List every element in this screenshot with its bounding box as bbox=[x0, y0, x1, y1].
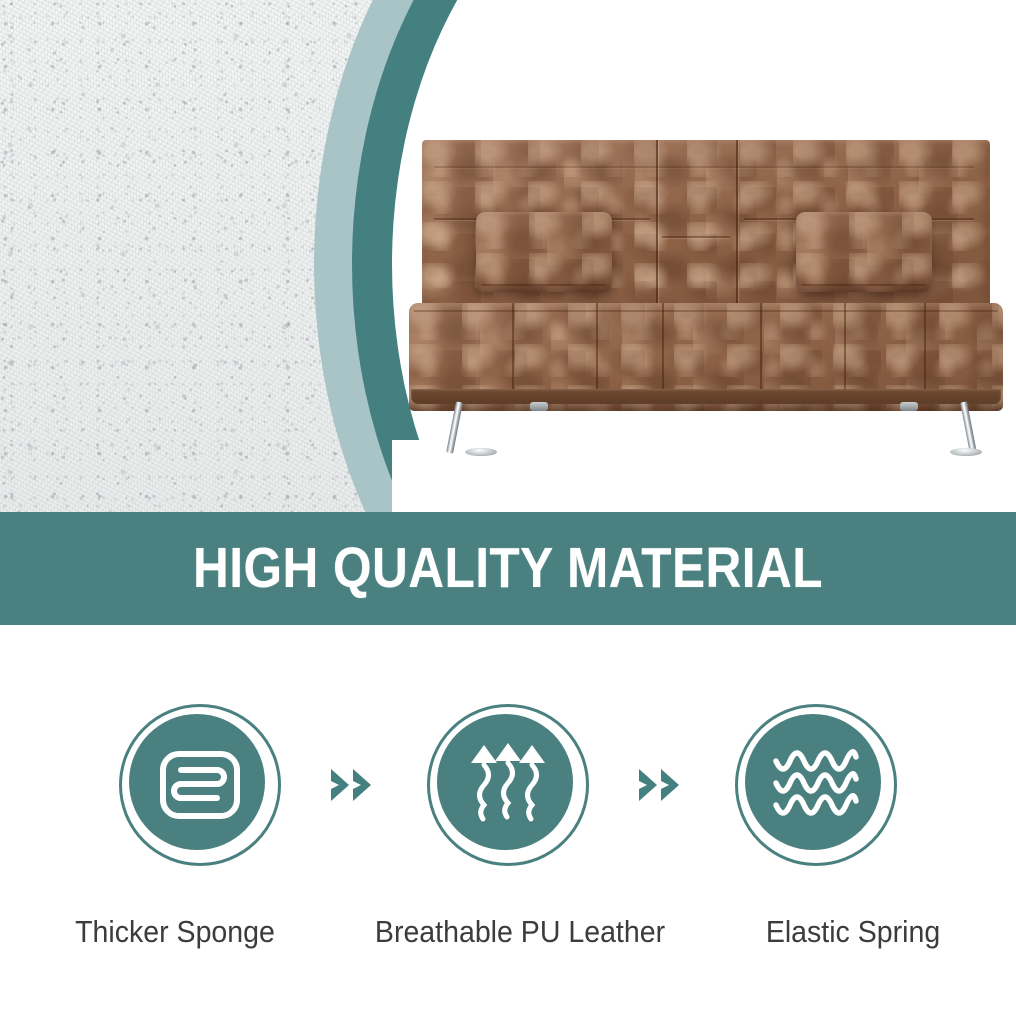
sofa-pillow-left bbox=[476, 212, 612, 292]
sofa-pillow-right bbox=[796, 212, 932, 292]
backrest-stitch bbox=[434, 166, 974, 168]
feature-label-breathable-pu-leather: Breathable PU Leather bbox=[348, 910, 692, 954]
headline-banner: HIGH QUALITY MATERIAL bbox=[0, 512, 1016, 625]
folded-sponge-layers-icon bbox=[154, 745, 246, 825]
separator-chevron-1 bbox=[315, 765, 393, 805]
product-image-sofa bbox=[404, 140, 1008, 460]
sofa-leg-base bbox=[950, 448, 982, 456]
seat-seam bbox=[924, 303, 926, 391]
double-chevron-right-icon bbox=[635, 765, 689, 805]
seat-seam bbox=[512, 303, 514, 391]
elastic-spring-waves-icon bbox=[770, 745, 862, 825]
separator-chevron-2 bbox=[623, 765, 701, 805]
feature-item-elastic-spring bbox=[701, 704, 931, 866]
backrest-stitch bbox=[662, 236, 730, 238]
seat-seam bbox=[844, 303, 846, 391]
feature-icon-circle bbox=[119, 704, 281, 866]
feature-label-thicker-sponge: Thicker Sponge bbox=[14, 910, 336, 954]
feature-item-thicker-sponge bbox=[85, 704, 315, 866]
feature-icon-circle bbox=[427, 704, 589, 866]
feature-label-elastic-spring: Elastic Spring bbox=[703, 910, 1003, 954]
sofa-leg-rear-right bbox=[900, 402, 918, 411]
seat-stitch bbox=[414, 310, 998, 312]
seat-seam bbox=[662, 303, 664, 391]
product-infographic: HIGH QUALITY MATERIAL bbox=[0, 0, 1016, 1016]
seat-seam bbox=[596, 303, 598, 391]
feature-item-breathable-pu-leather bbox=[393, 704, 623, 866]
breathable-up-arrows-icon bbox=[466, 739, 550, 831]
sofa-leg-rear-left bbox=[530, 402, 548, 411]
feature-captions: Thicker Sponge Breathable PU Leather Ela… bbox=[0, 910, 1016, 970]
hero-section bbox=[0, 0, 1016, 512]
feature-icon-row bbox=[0, 705, 1016, 865]
banner-title: HIGH QUALITY MATERIAL bbox=[193, 540, 823, 597]
feature-icon-circle bbox=[735, 704, 897, 866]
seat-seam bbox=[760, 303, 762, 391]
double-chevron-right-icon bbox=[327, 765, 381, 805]
sofa-leg-base bbox=[465, 448, 497, 456]
features-section: Thicker Sponge Breathable PU Leather Ela… bbox=[0, 625, 1016, 1016]
